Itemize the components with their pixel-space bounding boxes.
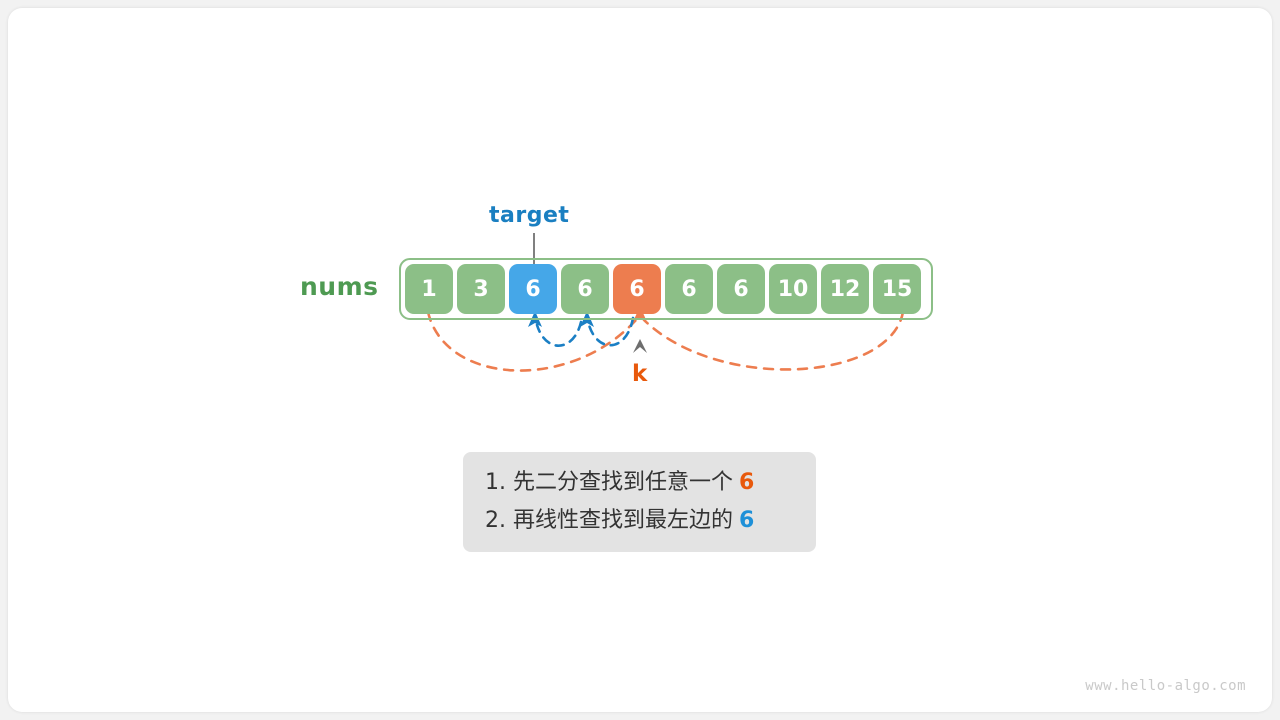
array-cell: 6: [717, 264, 765, 314]
note-line-2: 2. 再线性查找到最左边的6: [485, 502, 816, 540]
array-cell: 12: [821, 264, 869, 314]
target-label: target: [489, 205, 569, 227]
array-cells: 1 3 6 6 6 6 6 10 12 15: [405, 264, 921, 314]
explanation-box: 1. 先二分查找到任意一个6 2. 再线性查找到最左边的6: [463, 452, 816, 552]
blue-arc-outer: [537, 322, 581, 346]
note-line-1-text: 1. 先二分查找到任意一个: [485, 470, 733, 495]
array-cell-target: 6: [509, 264, 557, 314]
orange-arc-right: [644, 312, 903, 369]
array-cell: 6: [561, 264, 609, 314]
k-pointer-label: k: [632, 363, 647, 386]
blue-arc-inner: [589, 318, 633, 345]
array-cell: 1: [405, 264, 453, 314]
k-caret-icon: [633, 339, 647, 353]
diagram-canvas: nums target k 1 3 6 6 6 6 6 10 12 15 1. …: [0, 0, 1280, 720]
note-line-2-value: 6: [733, 508, 754, 533]
note-line-1: 1. 先二分查找到任意一个6: [485, 464, 816, 502]
array-cell-k: 6: [613, 264, 661, 314]
array-cell: 3: [457, 264, 505, 314]
nums-label: nums: [300, 274, 379, 299]
array-cell: 10: [769, 264, 817, 314]
watermark: www.hello-algo.com: [1085, 678, 1246, 694]
note-line-2-text: 2. 再线性查找到最左边的: [485, 508, 733, 533]
array-cell: 6: [665, 264, 713, 314]
note-line-1-value: 6: [733, 470, 754, 495]
connector-artwork: [0, 0, 1280, 720]
array-cell: 15: [873, 264, 921, 314]
